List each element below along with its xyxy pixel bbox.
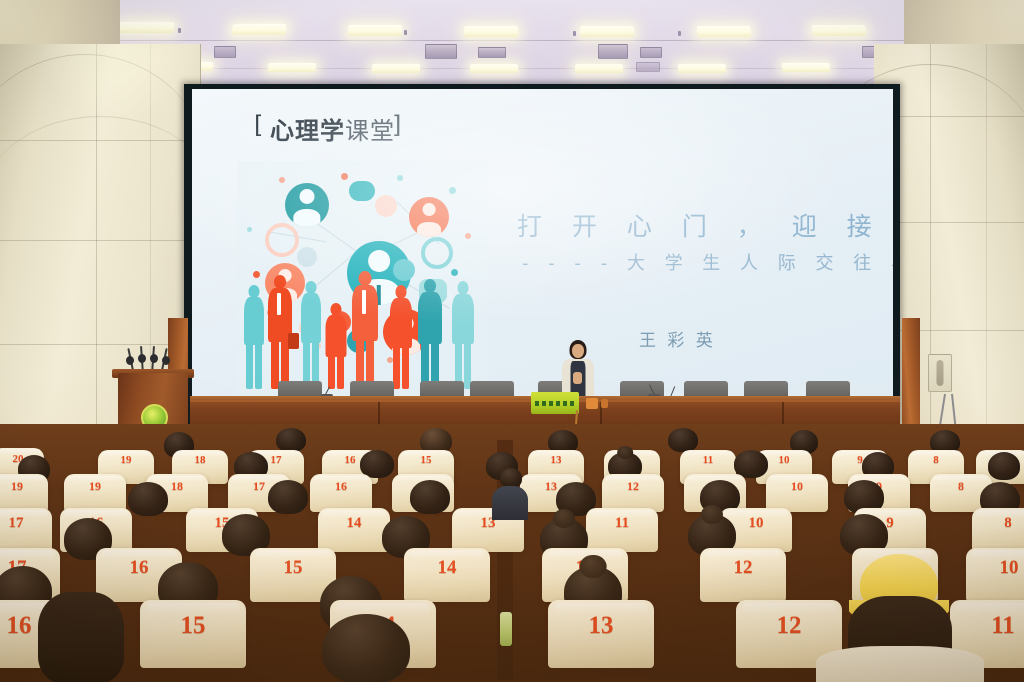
ceiling-light-panel [348,25,403,36]
seat-number: 10 [749,515,764,532]
seat-number: 19 [11,479,23,494]
audience-head [322,614,410,682]
air-vent [598,44,628,59]
seat-number: 11 [703,454,713,466]
silhouette-person [389,285,413,389]
ceiling-light-panel [372,64,420,73]
icon-bubble-mail [349,181,375,201]
seat-number: 15 [284,557,303,579]
seat-number: 19 [121,454,132,466]
slide-surface: 心理学课堂 [ ] 打 开 心 门 ， 迎 接 阳 光 - - - - 大 学 … [192,89,893,418]
silhouette-person [300,281,322,389]
ceiling-light-panel [464,26,518,37]
seat[interactable]: 10 [766,474,828,512]
aisle-person-shoulders [492,486,528,520]
ceiling-light-panel [575,64,623,73]
seat-number: 16 [335,479,347,494]
slide-header-bold: 心理学 [270,117,345,145]
seat-number: 15 [421,454,432,466]
air-vent [478,47,506,58]
air-vent [640,47,662,58]
seat[interactable]: 12 [700,548,786,602]
icon-bubble-twitter [393,259,415,281]
seat-number: 12 [777,612,802,640]
seat-number: 13 [545,479,557,494]
seat-number: 10 [779,454,790,466]
seat-number: 16 [130,557,149,579]
seat[interactable]: 19 [0,474,48,512]
seat[interactable]: 8 [972,508,1024,552]
seat[interactable]: 11 [586,508,658,552]
slide-header: 心理学课堂 [270,111,395,146]
seat[interactable]: 10 [966,548,1024,602]
silhouette-person [417,279,443,389]
ceiling-light-panel [580,26,634,37]
seat[interactable]: 16 [310,474,372,512]
seat-number: 10 [1000,557,1019,579]
seat[interactable]: 13 [548,600,654,668]
seat[interactable]: 14 [318,508,390,552]
seat-number: 14 [347,515,362,532]
ceiling-light-panel [782,63,831,72]
audience-head [410,480,450,514]
ceiling-light-panel [117,22,175,33]
slide-header-bracket-open: [ [254,111,263,139]
avatar-node-upper-right [409,197,449,237]
icon-bubble-wifi [297,247,317,267]
seat[interactable]: 19 [64,474,126,512]
auditorium-photo: 心理学课堂 [ ] 打 开 心 门 ， 迎 接 阳 光 - - - - 大 学 … [0,0,1024,682]
audience-head [268,480,308,514]
seat-number: 12 [627,479,639,494]
slide-author: 王 彩 英 [639,326,716,351]
slide-header-bracket-close: ] [392,111,401,139]
projection-screen: 心理学课堂 [ ] 打 开 心 门 ， 迎 接 阳 光 - - - - 大 学 … [184,84,900,424]
wood-pillar-right [902,318,920,436]
audience-head [988,452,1020,480]
icon-bubble-cloud [375,195,397,217]
ceiling-light-panel [470,64,518,73]
water-bottle [500,612,512,646]
slide-main-title: 打 开 心 门 ， 迎 接 阳 光 [517,207,893,243]
presenter-figure [560,340,596,400]
silhouette-person-child [325,303,347,389]
seat-number: 14 [438,557,457,579]
ceiling-light-panel [697,26,752,37]
microphone-head [150,354,158,363]
seat-number: 8 [958,479,964,494]
seat-number: 17 [271,454,282,466]
avatar-node-upper-left [285,183,329,227]
silhouette-person [451,281,475,389]
microphone-head [126,356,134,365]
icon-ring-camera [265,223,299,257]
seat[interactable]: 15 [140,600,246,668]
silhouette-person [351,271,379,389]
ceiling-light-panel [268,63,317,72]
slide-illustration [237,161,487,401]
slide-header-light: 课堂 [345,117,395,145]
seat[interactable]: 12 [602,474,664,512]
icon-ring-user [421,237,453,269]
desk-object [586,398,598,409]
air-vent [636,62,660,72]
seat[interactable]: 14 [404,548,490,602]
audience-head [128,482,168,516]
audience-head [276,428,306,452]
seat-number: 16 [345,454,356,466]
audience-shoulders [816,646,984,682]
wall-speaker-grille [928,354,952,392]
seat-number: 18 [195,454,206,466]
aisle-person-head [500,468,522,488]
seat-number: 15 [181,612,206,640]
air-vent [425,44,457,59]
audience-head [668,428,698,452]
audience-long-hair [38,592,124,682]
microphone-head [138,354,146,363]
seat-number: 17 [9,515,24,532]
seat-number: 13 [551,454,562,466]
silhouette-person [267,275,293,389]
ceiling-light-panel [231,24,286,35]
seat-number: 11 [615,515,629,532]
seat-number: 10 [791,479,803,494]
microphone-head [162,356,170,365]
silhouette-person [243,285,265,389]
seat-number: 12 [734,557,753,579]
seat-number: 19 [89,479,101,494]
green-display-box [531,392,579,414]
seat-number: 8 [1004,515,1012,532]
seat-number: 11 [991,612,1015,640]
seat-number: 16 [7,612,32,640]
seat-number: 13 [589,612,614,640]
seat-number: 8 [933,454,939,466]
desk-object [601,399,608,408]
seat-number: 17 [253,479,265,494]
ceiling-light-panel [811,25,866,36]
ceiling-light-panel [678,64,726,73]
seat-number: 18 [171,479,183,494]
slide-subtitle: - - - - 大 学 生 人 际 交 往 与 沟 通 [522,249,893,275]
seat[interactable]: 17 [0,508,52,552]
air-vent [214,46,236,58]
